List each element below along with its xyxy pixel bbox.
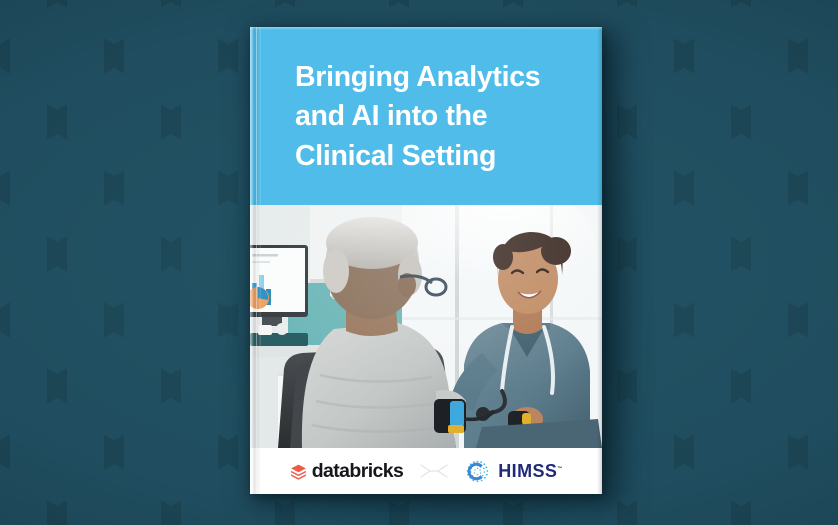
book-cover: Bringing Analytics and AI into the Clini… — [250, 27, 602, 494]
bowtie-divider-icon — [419, 463, 449, 479]
ebook-cover-mockup: Bringing Analytics and AI into the Clini… — [243, 25, 605, 495]
cover-photo — [250, 205, 602, 448]
himss-dotted-circle-icon — [465, 459, 490, 484]
databricks-logo: databricks — [290, 460, 404, 483]
himss-logo: HIMSS™ — [465, 459, 562, 484]
himss-wordmark-text: HIMSS — [498, 461, 557, 481]
cover-header-band: Bringing Analytics and AI into the Clini… — [250, 27, 602, 205]
databricks-stack-icon — [290, 463, 307, 480]
databricks-wordmark: databricks — [312, 460, 404, 483]
page-title: Bringing Analytics and AI into the Clini… — [295, 58, 585, 176]
cover-logo-band: databricks — [250, 448, 602, 494]
himss-trademark: ™ — [557, 466, 562, 472]
himss-wordmark: HIMSS™ — [498, 461, 562, 482]
